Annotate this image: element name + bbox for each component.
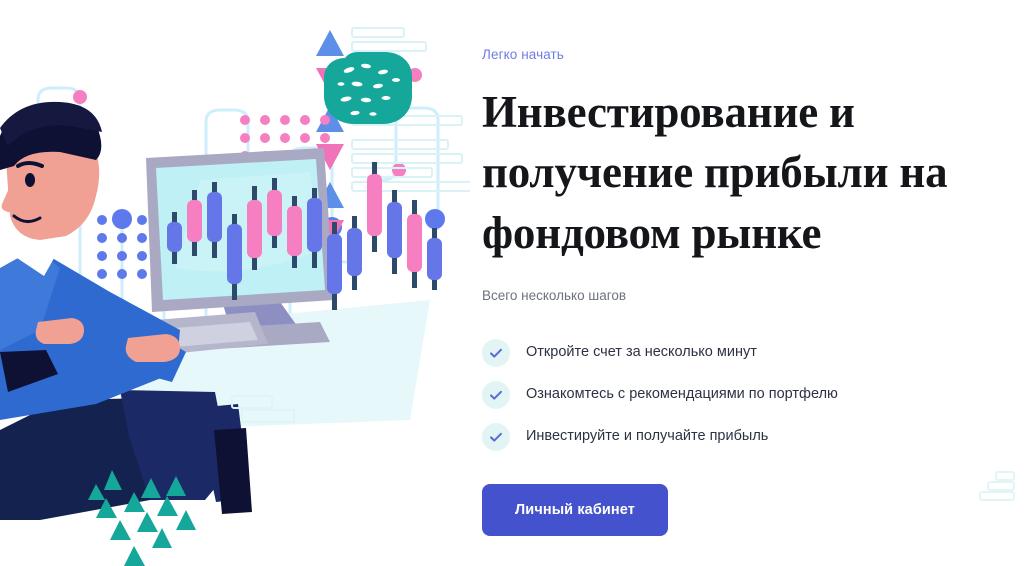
ghost-stairs-icon — [976, 468, 1016, 508]
list-item: Ознакомтесь с рекомендациями по портфелю — [482, 374, 1024, 416]
illustration-svg — [0, 0, 470, 566]
list-item-label: Инвестируйте и получайте прибыль — [526, 428, 768, 445]
list-item-label: Откройте счет за несколько минут — [526, 344, 757, 361]
eye — [25, 173, 35, 187]
list-item-label: Ознакомтесь с рекомендациями по портфелю — [526, 386, 838, 403]
hero-section: Легко начать Инвестирование и получение … — [0, 0, 1024, 566]
list-item: Инвестируйте и получайте прибыль — [482, 416, 1024, 458]
page-title: Инвестирование и получение прибыли на фо… — [482, 82, 1002, 263]
hero-subtitle: Всего несколько шагов — [482, 287, 1024, 305]
hero-eyebrow: Легко начать — [482, 47, 1024, 63]
benefits-checklist: Откройте счет за несколько минут Ознаком… — [482, 332, 1024, 458]
check-icon — [482, 423, 510, 451]
investor-at-desk-illustration — [0, 0, 470, 566]
personal-account-button[interactable]: Личный кабинет — [482, 484, 668, 536]
hero-copy: Легко начать Инвестирование и получение … — [470, 0, 1024, 566]
list-item: Откройте счет за несколько минут — [482, 332, 1024, 374]
brain-icon — [324, 52, 412, 124]
check-icon — [482, 339, 510, 367]
check-icon — [482, 381, 510, 409]
